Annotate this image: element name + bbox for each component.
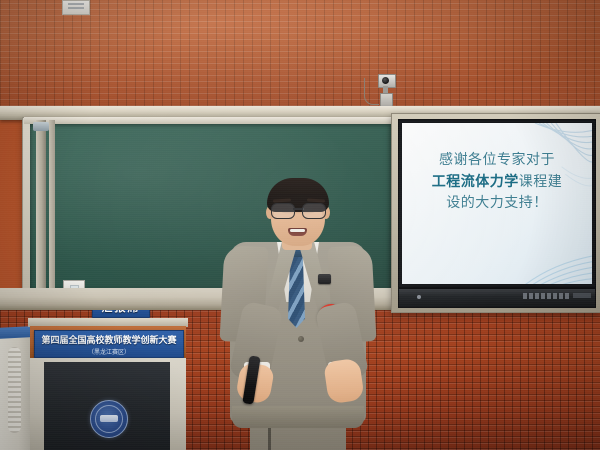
presenter-mouth: [288, 228, 307, 236]
lectern: 第四届全国高校教师教学创新大赛 （黑龙江赛区）: [28, 318, 188, 450]
university-seal-emblem: [90, 400, 128, 438]
display-button[interactable]: [565, 293, 569, 299]
blackboard-slide-rail-secondary[interactable]: [49, 120, 55, 292]
slide-text-block: 感谢各位专家对于 工程流体力学课程建 设的大力支持！: [402, 149, 592, 214]
upper-brick-wall: [0, 0, 600, 112]
smart-display[interactable]: 感谢各位专家对于 工程流体力学课程建 设的大力支持！: [391, 113, 600, 313]
blackboard-slide-rail[interactable]: [36, 120, 46, 292]
display-brand-mark: [573, 293, 591, 298]
slide-emphasis-text: 工程流体力学: [432, 173, 519, 189]
tower-speaker-grill: [8, 347, 21, 433]
plate-slot: [68, 7, 84, 9]
display-buttons[interactable]: [523, 293, 569, 299]
display-button[interactable]: [535, 293, 539, 299]
display-button[interactable]: [553, 293, 557, 299]
display-bezel: 感谢各位专家对于 工程流体力学课程建 设的大力支持！: [398, 119, 596, 288]
jacket-button: [298, 336, 304, 342]
display-screen[interactable]: 感谢各位专家对于 工程流体力学课程建 设的大力支持！: [402, 123, 592, 284]
competition-banner-title: 第四届全国高校教师教学创新大赛: [41, 333, 176, 346]
classroom-scene: 汇报席: [0, 0, 600, 450]
competition-banner-subtitle: （黑龙江赛区）: [88, 347, 130, 356]
camera-lens-icon: [382, 77, 389, 84]
display-control-bar[interactable]: [398, 288, 596, 308]
trouser-seam: [268, 428, 271, 450]
security-camera-icon: [376, 74, 396, 108]
display-button[interactable]: [529, 293, 533, 299]
eyeglasses-icon: [271, 203, 326, 217]
rail-slider-handle[interactable]: [33, 122, 49, 131]
plate-slot: [68, 3, 84, 5]
slide-line-2-rest: 课程建: [519, 173, 563, 189]
jacket-hem: [232, 406, 364, 428]
blackboard-top-rail: [24, 117, 392, 124]
competition-banner: 第四届全国高校教师教学创新大赛 （黑龙江赛区）: [34, 330, 184, 358]
slide-line-2: 工程流体力学课程建: [402, 171, 592, 193]
slide-line-1: 感谢各位专家对于: [402, 149, 592, 171]
power-indicator-icon: [417, 295, 421, 299]
display-button[interactable]: [523, 293, 527, 299]
presenter: 1: [222, 176, 374, 450]
camera-wire: [364, 78, 379, 105]
glasses-lens-left: [271, 203, 295, 219]
glasses-lens-right: [302, 203, 326, 219]
wall-control-plate[interactable]: [62, 0, 90, 15]
display-button[interactable]: [547, 293, 551, 299]
lectern-front-panel: [44, 362, 170, 450]
clip-on-microphone-icon: [318, 274, 331, 284]
display-button[interactable]: [541, 293, 545, 299]
presenter-right-hand: [323, 358, 364, 405]
slide-line-3: 设的大力支持！: [402, 192, 592, 214]
display-button[interactable]: [559, 293, 563, 299]
